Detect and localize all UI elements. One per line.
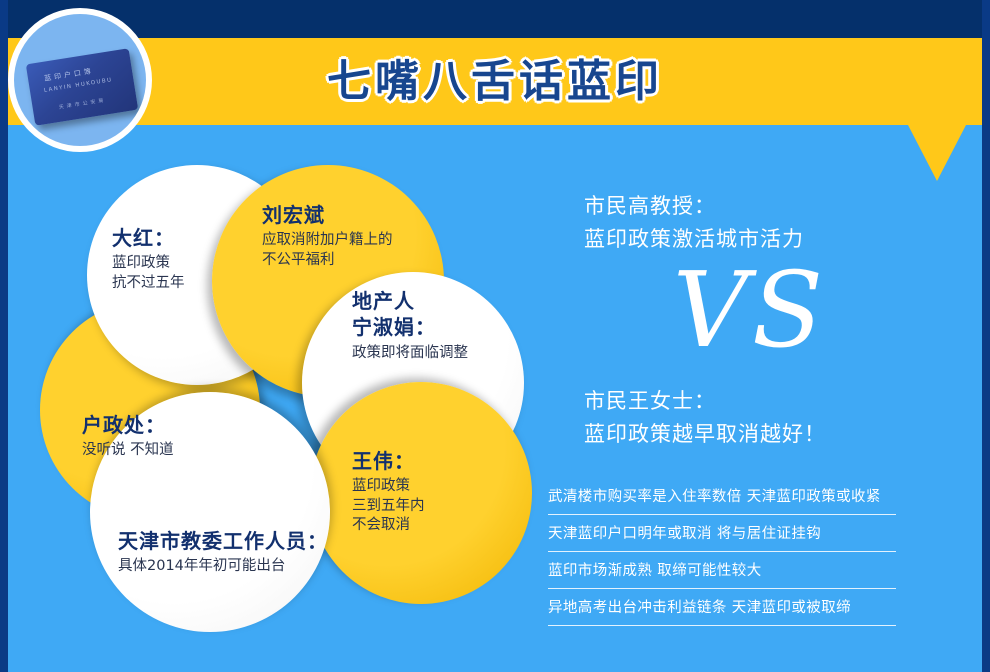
quote-opponent: 市民王女士： 蓝印政策越早取消越好！ (584, 385, 826, 450)
infographic-canvas: 七嘴八舌话蓝印 蓝印户口簿 LANYIN HUKOUBU 天津市公安局 大红： … (0, 0, 990, 672)
petal-label-wangwei: 王伟： 蓝印政策 三到五年内 不会取消 (352, 448, 425, 535)
left-edge-stripe (0, 0, 8, 672)
petal-desc-ningshujuan: 政策即将面临调整 (352, 344, 468, 363)
vs-label: VS (640, 258, 860, 362)
news-link[interactable]: 天津蓝印户口明年或取消 将与居住证挂钩 (548, 515, 896, 552)
petal-name-dahong: 大红： (112, 225, 185, 251)
petal-name-wangwei: 王伟： (352, 448, 425, 474)
petal-desc-dahong: 蓝印政策 抗不过五年 (112, 254, 185, 292)
news-link[interactable]: 武清楼市购买率是入住率数倍 天津蓝印政策或收紧 (548, 478, 896, 515)
hukou-badge: 蓝印户口簿 LANYIN HUKOUBU 天津市公安局 (8, 8, 152, 152)
quote-opponent-statement: 蓝印政策越早取消越好！ (584, 418, 826, 451)
petal-name-ningshujuan-line2: 宁淑娟： (352, 314, 468, 340)
header-arrow-icon (908, 125, 966, 181)
petal-label-ningshujuan: 地产人 宁淑娟： 政策即将面临调整 (352, 288, 468, 363)
booklet-issuer: 天津市公安局 (58, 96, 107, 110)
petal-name-ningshujuan-line1: 地产人 (352, 288, 468, 314)
petal-name-jiaowei: 天津市教委工作人员： (118, 528, 328, 554)
news-link[interactable]: 异地高考出台冲击利益链条 天津蓝印或被取缔 (548, 589, 896, 626)
related-news-list: 武清楼市购买率是入住率数倍 天津蓝印政策或收紧 天津蓝印户口明年或取消 将与居住… (548, 478, 896, 626)
opinion-pinwheel: 大红： 蓝印政策 抗不过五年 刘宏斌 应取消附加户籍上的 不公平福利 地产人 宁… (30, 160, 550, 630)
quote-opponent-speaker: 市民王女士： (584, 385, 826, 418)
petal-name-huzhengchu: 户政处： (82, 412, 174, 438)
quote-supporter: 市民高教授： 蓝印政策激活城市活力 (584, 190, 804, 255)
petal-desc-wangwei: 蓝印政策 三到五年内 不会取消 (352, 477, 425, 534)
header-navy-band (0, 0, 990, 38)
petal-desc-liuhongbin: 应取消附加户籍上的 不公平福利 (262, 231, 393, 269)
quote-supporter-speaker: 市民高教授： (584, 190, 804, 223)
petal-desc-huzhengchu: 没听说 不知道 (82, 441, 174, 460)
petal-label-huzhengchu: 户政处： 没听说 不知道 (82, 412, 174, 461)
petal-name-liuhongbin: 刘宏斌 (262, 202, 393, 228)
hukou-booklet-icon: 蓝印户口簿 LANYIN HUKOUBU 天津市公安局 (26, 48, 138, 126)
petal-label-dahong: 大红： 蓝印政策 抗不过五年 (112, 225, 185, 293)
news-link[interactable]: 蓝印市场渐成熟 取缔可能性较大 (548, 552, 896, 589)
petal-label-liuhongbin: 刘宏斌 应取消附加户籍上的 不公平福利 (262, 202, 393, 270)
petal-label-jiaowei: 天津市教委工作人员： 具体2014年年初可能出台 (118, 528, 328, 577)
petal-desc-jiaowei: 具体2014年年初可能出台 (118, 557, 328, 576)
right-edge-stripe (982, 0, 990, 672)
